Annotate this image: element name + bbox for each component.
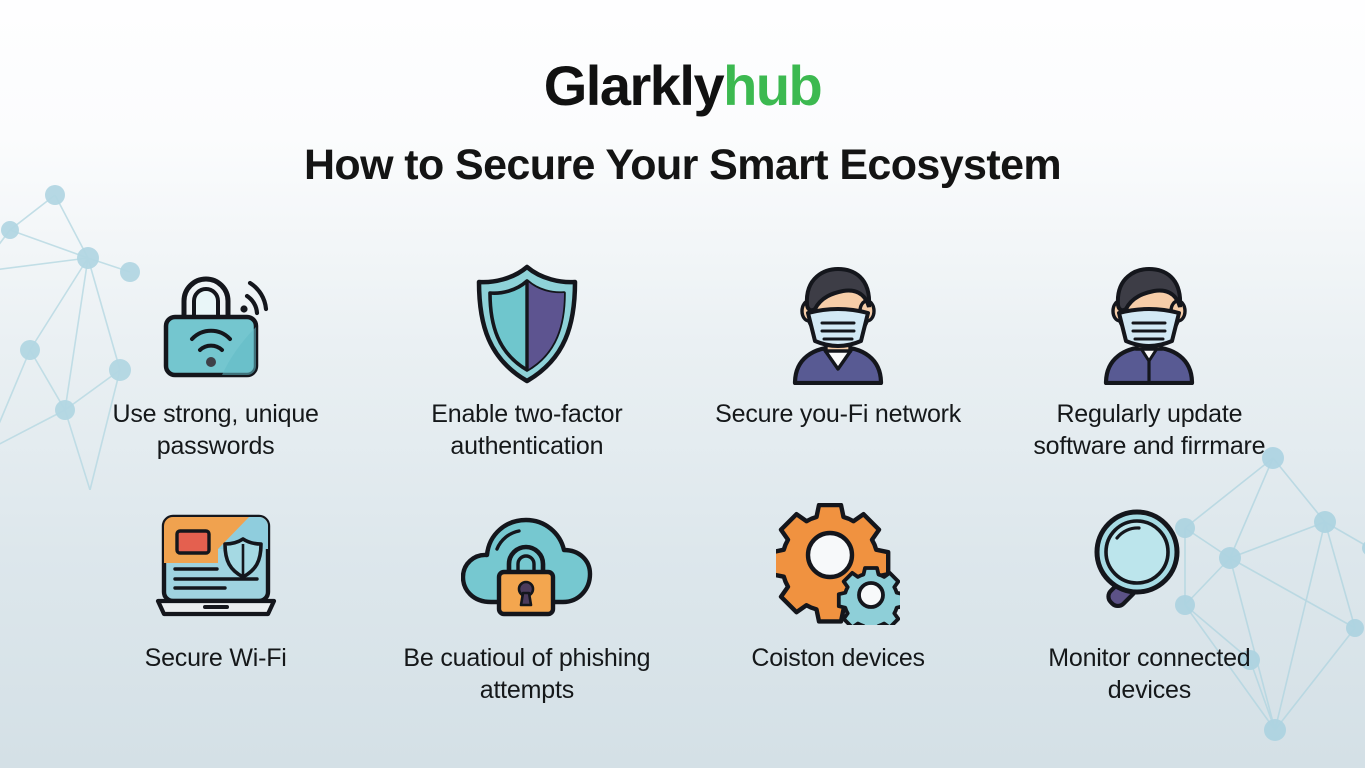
tip-label: Regularly update software and firrmare: [1013, 398, 1285, 462]
tip-icon-slot: [1087, 500, 1211, 628]
padlock-wifi-icon: [154, 265, 278, 383]
tip-label: Coiston devices: [751, 642, 924, 674]
shield-icon: [471, 261, 583, 387]
masked-person-icon: [777, 263, 899, 385]
masked-person-icon: [1088, 263, 1210, 385]
tip-item: Secure you-Fi network: [683, 258, 994, 486]
tip-item: Enable two-factor authentication: [371, 258, 682, 486]
tips-grid: Use strong, unique passwords Enable two-…: [60, 258, 1305, 728]
tip-icon-slot: [777, 258, 899, 390]
gears-icon: [776, 503, 900, 625]
brand-name-primary: Glarkly: [544, 54, 723, 117]
tip-icon-slot: [461, 500, 593, 628]
tip-item: Secure Wi-Fi: [60, 500, 371, 728]
tip-label: Be cuatioul of phishing attempts: [391, 642, 663, 706]
tip-label: Secure Wi-Fi: [145, 642, 287, 674]
tip-item: Monitor connected devices: [994, 500, 1305, 728]
tip-label: Monitor connected devices: [1013, 642, 1285, 706]
cloud-lock-icon: [461, 510, 593, 618]
magnifier-icon: [1087, 506, 1211, 622]
laptop-shield-icon: [155, 509, 277, 619]
brand-name-accent: hub: [723, 54, 821, 117]
tip-label: Secure you-Fi network: [715, 398, 961, 430]
tip-icon-slot: [776, 500, 900, 628]
tip-icon-slot: [155, 500, 277, 628]
tip-item: Coiston devices: [683, 500, 994, 728]
tip-item: Regularly update software and firrmare: [994, 258, 1305, 486]
page-title: How to Secure Your Smart Ecosystem: [0, 142, 1365, 189]
tip-label: Enable two-factor authentication: [391, 398, 663, 462]
tip-label: Use strong, unique passwords: [80, 398, 352, 462]
tip-item: Use strong, unique passwords: [60, 258, 371, 486]
infographic-canvas: Glarklyhub How to Secure Your Smart Ecos…: [0, 0, 1365, 768]
brand-logo: Glarklyhub: [0, 58, 1365, 114]
tip-icon-slot: [471, 258, 583, 390]
tip-item: Be cuatioul of phishing attempts: [371, 500, 682, 728]
tip-icon-slot: [154, 258, 278, 390]
tip-icon-slot: [1088, 258, 1210, 390]
